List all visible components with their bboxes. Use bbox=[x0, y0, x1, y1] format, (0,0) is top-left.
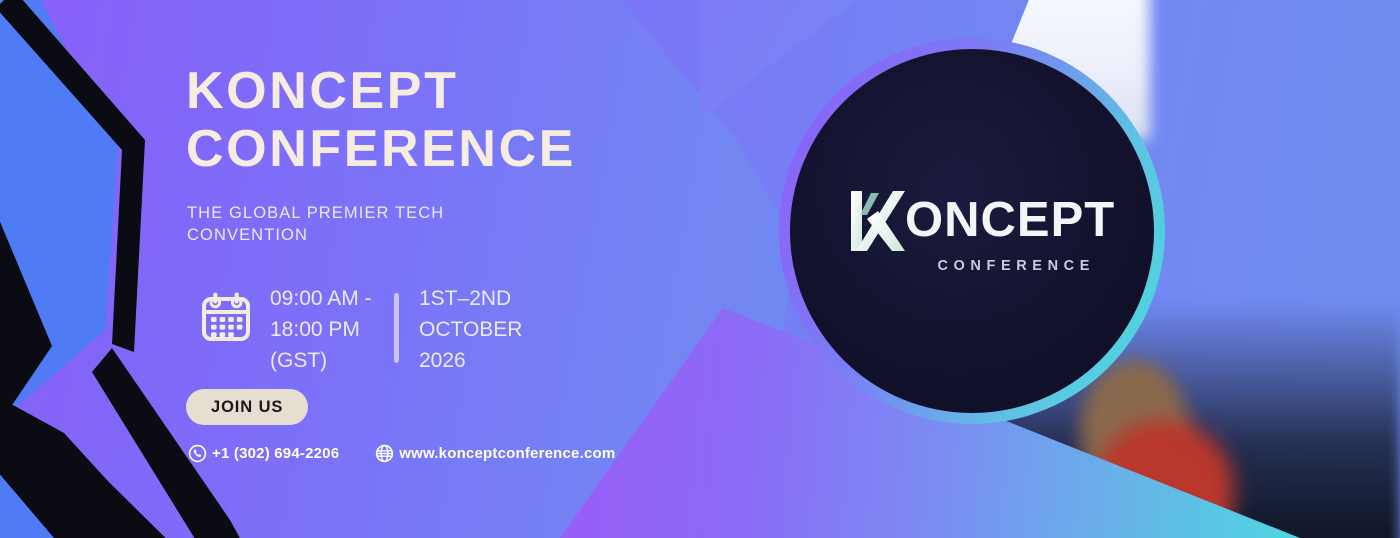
event-time-line-3: (GST) bbox=[270, 346, 388, 377]
logo-wordmark: ONCEPT bbox=[905, 196, 1115, 245]
contact-phone-label: +1 (302) 694-2206 bbox=[212, 445, 339, 462]
event-date-line-2: OCTOBER bbox=[419, 315, 569, 346]
event-date-line-1: 1ST–2ND bbox=[419, 284, 569, 315]
calendar-icon bbox=[200, 291, 252, 348]
title-line-2: CONFERENCE bbox=[186, 120, 576, 178]
event-details: 09:00 AM - 18:00 PM (GST) 1ST–2ND OCTOBE… bbox=[200, 284, 569, 377]
event-date: 1ST–2ND OCTOBER 2026 bbox=[419, 284, 569, 377]
banner-content: KONCEPT CONFERENCE THE GLOBAL PREMIER TE… bbox=[186, 0, 786, 538]
logo-k-mark-icon bbox=[847, 189, 909, 253]
contact-website[interactable]: www.konceptconference.com bbox=[375, 444, 615, 463]
logo-tagline: CONFERENCE bbox=[847, 258, 1097, 274]
event-time-line-2: 18:00 PM bbox=[270, 315, 388, 346]
join-us-button[interactable]: JOIN US bbox=[186, 389, 308, 425]
event-date-line-3: 2026 bbox=[419, 346, 569, 377]
contact-row: +1 (302) 694-2206 www.konceptconference.… bbox=[188, 444, 615, 463]
conference-banner: ONCEPT CONFERENCE KONCEPT CONFERENCE THE… bbox=[0, 0, 1400, 538]
koncept-logo: ONCEPT CONFERENCE bbox=[847, 189, 1097, 274]
meta-divider bbox=[394, 293, 399, 363]
globe-icon bbox=[375, 444, 394, 463]
event-time: 09:00 AM - 18:00 PM (GST) bbox=[270, 284, 388, 377]
contact-phone[interactable]: +1 (302) 694-2206 bbox=[188, 444, 339, 463]
title-line-1: KONCEPT bbox=[186, 62, 458, 120]
page-title: KONCEPT CONFERENCE bbox=[186, 62, 576, 178]
banner-subtitle: THE GLOBAL PREMIER TECH CONVENTION bbox=[187, 202, 477, 246]
logo-badge: ONCEPT CONFERENCE bbox=[779, 38, 1165, 424]
logo-badge-inner: ONCEPT CONFERENCE bbox=[790, 49, 1154, 413]
logo-wordmark-row: ONCEPT bbox=[847, 189, 1097, 253]
phone-icon bbox=[188, 444, 207, 463]
contact-website-label: www.konceptconference.com bbox=[399, 445, 615, 462]
event-time-line-1: 09:00 AM - bbox=[270, 284, 388, 315]
